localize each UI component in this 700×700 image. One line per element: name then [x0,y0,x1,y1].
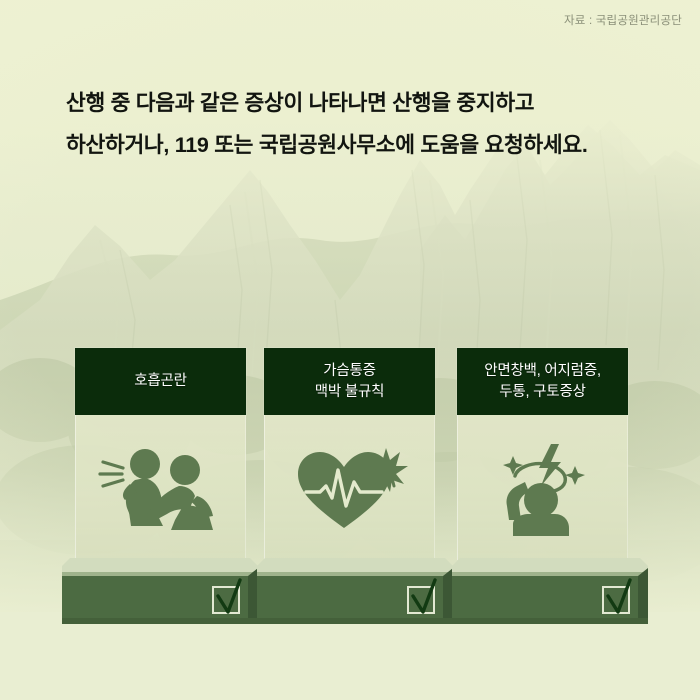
symptom-card-3[interactable]: 안면창백, 어지럼증, 두통, 구토증상 [457,348,628,560]
card-2-body [264,415,435,560]
card-2-title-line-2: 맥박 불규칙 [315,384,385,400]
card-1-body [75,415,246,560]
symptom-card-1[interactable]: 호흡곤란 [75,348,246,560]
headline-line-1: 산행 중 다음과 같은 증상이 나타나면 산행을 중지하고 [66,82,666,124]
card-3-body [457,415,628,560]
source-credit: 자료 : 국립공원관리공단 [564,12,682,28]
card-3-title: 안면창백, 어지럼증, 두통, 구토증상 [484,361,601,403]
plinth-3 [452,552,648,630]
check-mark-icon [407,578,441,622]
checkbox-3[interactable] [602,586,632,616]
card-1-header: 호흡곤란 [75,348,246,415]
headline-line-2: 하산하거나, 119 또는 국립공원사무소에 도움을 요청하세요. [66,124,666,166]
symptom-card-2[interactable]: 가슴통증 맥박 불규칙 [264,348,435,560]
dizzy-headache-person-icon [479,440,607,536]
base-plinths [0,552,700,636]
card-3-title-line-2: 두통, 구토증상 [499,384,586,400]
card-3-header: 안면창백, 어지럼증, 두통, 구토증상 [457,348,628,415]
card-1-title: 호흡곤란 [134,371,187,392]
poster-canvas: 자료 : 국립공원관리공단 산행 중 다음과 같은 증상이 나타나면 산행을 중… [0,0,700,700]
card-2-header: 가슴통증 맥박 불규칙 [264,348,435,415]
checkbox-1[interactable] [212,586,242,616]
check-mark-icon [212,578,246,622]
card-3-title-line-1: 안면창백, 어지럼증, [484,363,601,379]
plinth-1 [62,552,258,630]
check-mark-icon [602,578,636,622]
symptom-cards: 호흡곤란 [0,348,700,563]
heart-ecg-pulse-icon [286,440,414,536]
checkbox-2[interactable] [407,586,437,616]
plinth-2 [257,552,453,630]
headline: 산행 중 다음과 같은 증상이 나타나면 산행을 중지하고 하산하거나, 119… [66,82,666,166]
card-1-title-line-1: 호흡곤란 [134,373,187,389]
card-2-title: 가슴통증 맥박 불규칙 [315,361,385,403]
card-2-title-line-1: 가슴통증 [323,363,376,379]
person-coughing-breathing-difficulty-icon [97,440,225,536]
